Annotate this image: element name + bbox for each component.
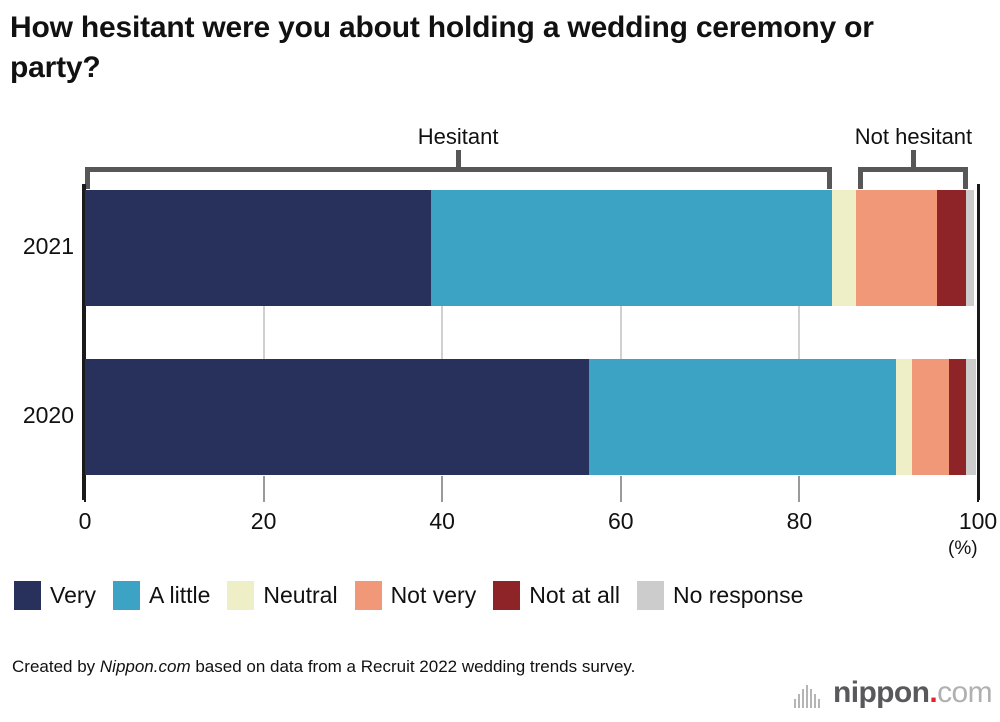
bracket-leg-right <box>963 167 968 189</box>
legend-item-not-very[interactable]: Not very <box>355 581 477 610</box>
x-tick-100 <box>977 476 979 502</box>
legend-label: No response <box>673 582 803 609</box>
bar-segment-a-little[interactable] <box>431 190 832 306</box>
logo-tld: com <box>937 676 992 709</box>
bracket-top-line <box>858 167 968 172</box>
x-tick-label-0: 0 <box>55 508 115 535</box>
bracket-stem <box>911 150 916 167</box>
legend-swatch <box>637 581 664 610</box>
legend-item-very[interactable]: Very <box>14 581 96 610</box>
bar-segment-a-little[interactable] <box>589 359 896 475</box>
logo-text: nippon.com <box>833 678 992 708</box>
source-note: Created by Nippon.com based on data from… <box>12 655 652 680</box>
x-tick-label-100: 100 <box>948 508 1000 535</box>
bracket-leg-right <box>827 167 832 189</box>
bracket-leg-left <box>858 167 863 189</box>
source-note-before: Created by <box>12 657 100 676</box>
x-tick-0 <box>84 476 86 502</box>
legend-item-no-response[interactable]: No response <box>637 581 803 610</box>
legend-swatch <box>14 581 41 610</box>
legend-label: Not very <box>391 582 477 609</box>
legend-swatch <box>227 581 254 610</box>
bracket-not-hesitant <box>858 167 968 189</box>
legend-label: Very <box>50 582 96 609</box>
bar-2021 <box>85 190 978 306</box>
y-axis-label-2021: 2021 <box>2 233 74 260</box>
bar-segment-not-very[interactable] <box>856 190 937 306</box>
logo-dot: . <box>929 676 937 709</box>
source-note-after: based on data from a Recruit 2022 weddin… <box>191 657 636 676</box>
bar-segment-not-very[interactable] <box>912 359 949 475</box>
legend-label: A little <box>149 582 210 609</box>
bar-segment-very[interactable] <box>85 190 431 306</box>
bracket-stem <box>456 150 461 167</box>
bar-segment-neutral[interactable] <box>832 190 856 306</box>
nippon-com-logo[interactable]: nippon.com <box>794 678 992 708</box>
legend-swatch <box>355 581 382 610</box>
legend-swatch <box>113 581 140 610</box>
bar-segment-no-response[interactable] <box>966 359 976 475</box>
x-tick-label-40: 40 <box>412 508 472 535</box>
x-tick-label-20: 20 <box>234 508 294 535</box>
axis-unit-label: (%) <box>948 538 978 560</box>
logo-name: nippon <box>833 676 929 709</box>
bracket-label-hesitant: Hesitant <box>418 124 499 150</box>
bracket-top-line <box>85 167 832 172</box>
x-tick-20 <box>263 476 265 502</box>
source-note-brand: Nippon.com <box>100 657 191 676</box>
y-axis-label-2020: 2020 <box>2 402 74 429</box>
x-tick-60 <box>620 476 622 502</box>
bar-segment-not-at-all[interactable] <box>949 359 967 475</box>
bar-segment-very[interactable] <box>85 359 589 475</box>
legend-label: Neutral <box>263 582 337 609</box>
legend-item-neutral[interactable]: Neutral <box>227 581 337 610</box>
x-tick-label-80: 80 <box>769 508 829 535</box>
legend-item-not-at-all[interactable]: Not at all <box>493 581 620 610</box>
legend-swatch <box>493 581 520 610</box>
stacked-bar-chart: Hesitant Not hesitant 202120200204060801… <box>0 0 1000 722</box>
bracket-hesitant <box>85 167 832 189</box>
bar-segment-not-at-all[interactable] <box>937 190 966 306</box>
legend-item-a-little[interactable]: A little <box>113 581 210 610</box>
legend-label: Not at all <box>529 582 620 609</box>
x-tick-label-60: 60 <box>591 508 651 535</box>
bracket-label-not-hesitant: Not hesitant <box>855 124 972 150</box>
x-tick-80 <box>798 476 800 502</box>
x-tick-40 <box>441 476 443 502</box>
bar-segment-neutral[interactable] <box>896 359 912 475</box>
bar-segment-no-response[interactable] <box>966 190 974 306</box>
chart-legend: VeryA littleNeutralNot veryNot at allNo … <box>14 578 994 612</box>
wave-icon <box>794 682 822 708</box>
bar-2020 <box>85 359 978 475</box>
